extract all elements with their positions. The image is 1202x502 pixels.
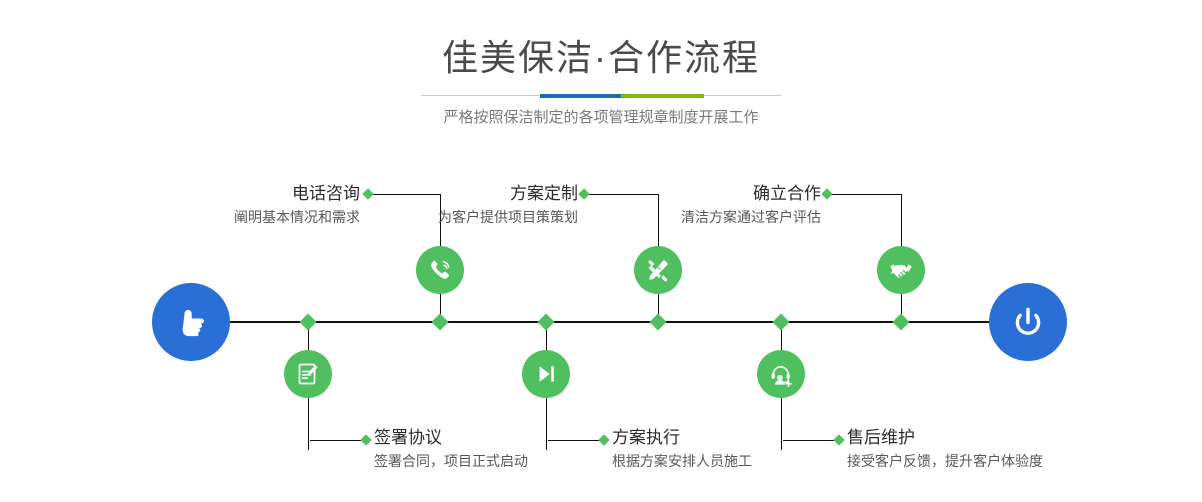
leader-dot-step-5 [821,188,832,199]
node-diamond-marker [650,314,667,331]
node-icon-badge[interactable] [416,246,464,294]
label-desc-step-3: 为客户提供项目策策划 [306,206,578,228]
page-title: 佳美保洁·合作流程 [0,36,1202,80]
label-title-step-3: 方案定制 [306,182,578,206]
page-subtitle: 严格按照保洁制定的各项管理规章制度开展工作 [0,106,1202,130]
divider-segment-blue [540,94,621,98]
label-step-6: 售后维护 接受客户反馈，提升客户体验度 [847,426,1167,472]
label-title-step-5: 确立合作 [549,182,821,206]
leader-line-step-2 [310,440,366,441]
node-diamond-marker [300,314,317,331]
node-icon-badge[interactable] [522,350,570,398]
node-diamond-marker [432,314,449,331]
label-title-step-6: 售后维护 [847,426,1167,450]
timeline-end-node[interactable] [989,283,1067,361]
page-header: 佳美保洁·合作流程 严格按照保洁制定的各项管理规章制度开展工作 [0,0,1202,140]
node-icon-badge[interactable] [634,246,682,294]
label-step-3: 方案定制 为客户提供项目策策划 [306,182,578,228]
label-desc-step-5: 清洁方案通过客户评估 [549,206,821,228]
node-diamond-marker [893,314,910,331]
label-desc-step-6: 接受客户反馈，提升客户体验度 [847,450,1167,472]
node-diamond-marker [538,314,555,331]
leader-line-step-4 [548,440,604,441]
pencil-ruler-icon [644,256,672,284]
document-edit-icon [294,360,322,388]
node-icon-badge[interactable] [284,350,332,398]
phone-call-icon [426,256,454,284]
title-divider [421,94,781,98]
label-step-5: 确立合作 清洁方案通过客户评估 [549,182,821,228]
divider-segment-green [621,94,704,98]
flow-diagram-page: 佳美保洁·合作流程 严格按照保洁制定的各项管理规章制度开展工作 [0,0,1202,502]
pointing-hand-icon [169,300,213,344]
leader-line-step-6 [783,440,839,441]
leader-dot-step-2 [360,434,371,445]
timeline-start-node[interactable] [152,283,230,361]
power-icon [1006,300,1050,344]
process-timeline: 电话咨询 阐明基本情况和需求 签署协议 [0,150,1202,502]
node-diamond-marker [773,314,790,331]
handshake-icon [887,256,915,284]
node-icon-badge[interactable] [757,350,805,398]
customer-service-add-icon [767,360,795,388]
play-execute-icon [532,360,560,388]
node-icon-badge[interactable] [877,246,925,294]
leader-line-step-5 [827,194,902,195]
